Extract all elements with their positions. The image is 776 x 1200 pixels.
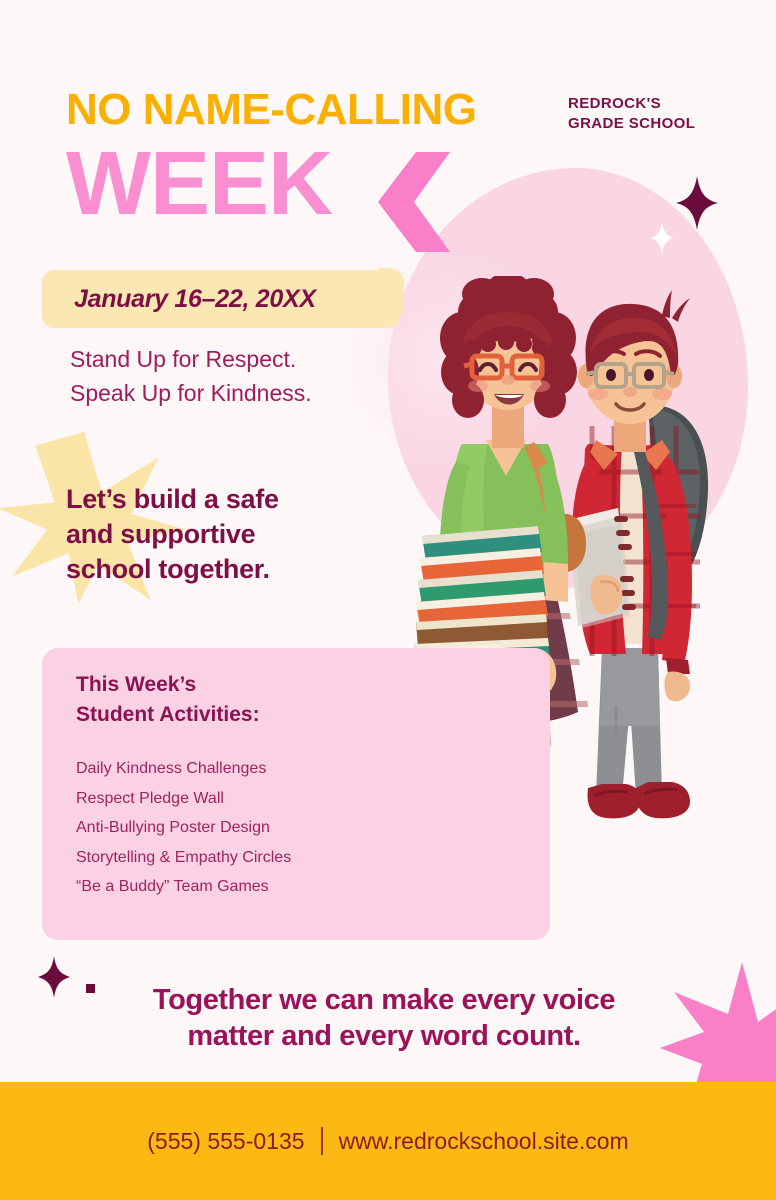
footer-website: www.redrockschool.site.com <box>339 1128 629 1155</box>
list-item: “Be a Buddy” Team Games <box>76 872 291 902</box>
poster-canvas: NO NAME-CALLING WEEK REDROCK'S GRADE SCH… <box>0 0 776 1200</box>
closing-statement: Together we can make every voice matter … <box>74 982 694 1054</box>
mission-statement: Let’s build a safe and supportive school… <box>66 482 366 587</box>
tagline: Stand Up for Respect. Speak Up for Kindn… <box>70 342 410 410</box>
list-item: Daily Kindness Challenges <box>76 754 291 784</box>
list-item: Respect Pledge Wall <box>76 784 291 814</box>
footer-divider <box>321 1127 323 1155</box>
school-name: REDROCK'S GRADE SCHOOL <box>568 94 768 134</box>
sparkle-icon <box>650 222 674 254</box>
sparkle-icon <box>38 956 70 998</box>
activities-list: Daily Kindness Challenges Respect Pledge… <box>76 754 291 902</box>
sparkle-icon <box>676 176 718 230</box>
footer-bar: (555) 555-0135 www.redrockschool.site.co… <box>0 1082 776 1200</box>
activities-title: This Week’s Student Activities: <box>76 670 260 730</box>
list-item: Storytelling & Empathy Circles <box>76 843 291 873</box>
footer-phone: (555) 555-0135 <box>147 1128 304 1155</box>
page-title-line2: WEEK <box>66 140 586 228</box>
list-item: Anti-Bullying Poster Design <box>76 813 291 843</box>
event-date: January 16–22, 20XX <box>74 285 316 314</box>
date-banner: January 16–22, 20XX <box>42 270 400 328</box>
page-title-line1: NO NAME-CALLING <box>66 86 586 134</box>
headline-block: NO NAME-CALLING WEEK <box>66 86 586 228</box>
activities-panel: This Week’s Student Activities: Daily Ki… <box>42 648 550 940</box>
